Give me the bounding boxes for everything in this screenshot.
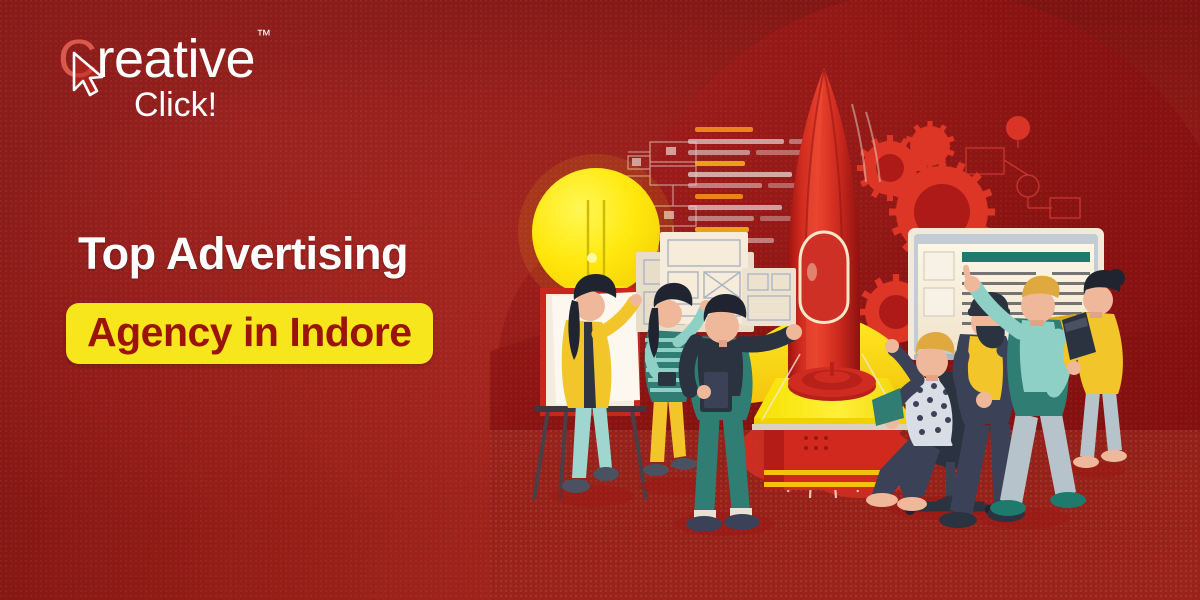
rocket-window: [800, 232, 848, 323]
banner-root: Creative™ Click! Top Advertising Agency …: [0, 0, 1200, 600]
mouse-cursor-icon: [68, 50, 108, 98]
logo-wordmark-line2: Click!: [134, 88, 270, 122]
headline-pill: Agency in Indore: [66, 303, 433, 364]
trademark-icon: ™: [256, 27, 271, 44]
logo-word1: reative: [97, 29, 256, 89]
headline-line2: Agency in Indore: [87, 312, 412, 353]
headline-line1: Top Advertising: [78, 228, 408, 280]
